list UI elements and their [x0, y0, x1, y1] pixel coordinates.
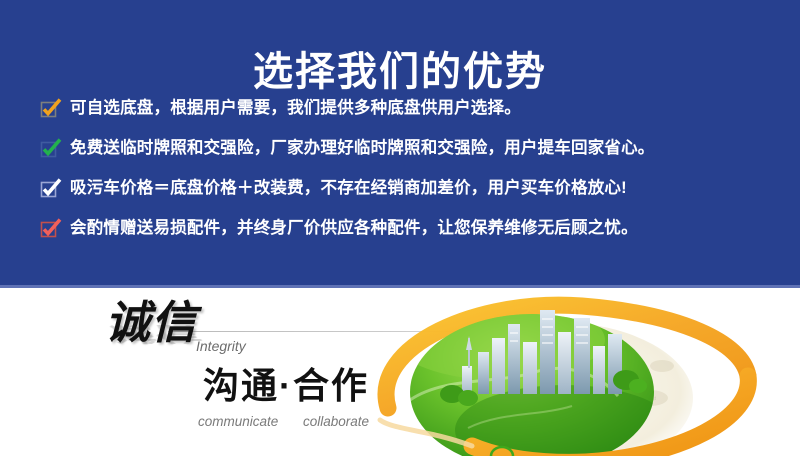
checkbox-checked-icon — [40, 137, 62, 159]
banner-subline-en-left: communicate — [198, 414, 278, 429]
checkbox-checked-icon — [40, 97, 62, 119]
advantage-text: 吸污车价格＝底盘价格＋改装费，不存在经销商加差价，用户买车价格放心! — [70, 177, 627, 199]
integrity-banner: 诚信 诚信 Integrity 沟通·合作 communicate collab… — [0, 288, 800, 456]
list-item: 会酌情赠送易损配件，并终身厂价供应各种配件，让您保养维修无后顾之忧。 — [40, 208, 785, 248]
advantage-list: 可自选底盘，根据用户需要，我们提供多种底盘供用户选择。 免费送临时牌照和交强险，… — [40, 88, 785, 248]
advantages-promo-page: 选择我们的优势 可自选底盘，根据用户需要，我们提供多种底盘供用户选择。 — [0, 0, 800, 456]
advantage-text: 免费送临时牌照和交强险，厂家办理好临时牌照和交强险，用户提车回家省心。 — [70, 137, 655, 159]
checkbox-checked-icon — [40, 177, 62, 199]
advantage-text: 可自选底盘，根据用户需要，我们提供多种底盘供用户选择。 — [70, 97, 521, 119]
list-item: 吸污车价格＝底盘价格＋改装费，不存在经销商加差价，用户买车价格放心! — [40, 168, 785, 208]
list-item: 免费送临时牌照和交强险，厂家办理好临时牌照和交强险，用户提车回家省心。 — [40, 128, 785, 168]
list-item: 可自选底盘，根据用户需要，我们提供多种底盘供用户选择。 — [40, 88, 785, 128]
checkbox-checked-icon — [40, 217, 62, 239]
banner-headline-en: Integrity — [196, 338, 246, 354]
green-globe-city-swoosh-image: Asia Indian Aust — [350, 288, 800, 456]
advantage-text: 会酌情赠送易损配件，并终身厂价供应各种配件，让您保养维修无后顾之忧。 — [70, 217, 638, 239]
banner-headline-cn: 诚信 — [105, 298, 197, 348]
banner-subline-cn: 沟通·合作 — [203, 365, 369, 407]
advantages-panel: 选择我们的优势 可自选底盘，根据用户需要，我们提供多种底盘供用户选择。 — [0, 0, 800, 285]
